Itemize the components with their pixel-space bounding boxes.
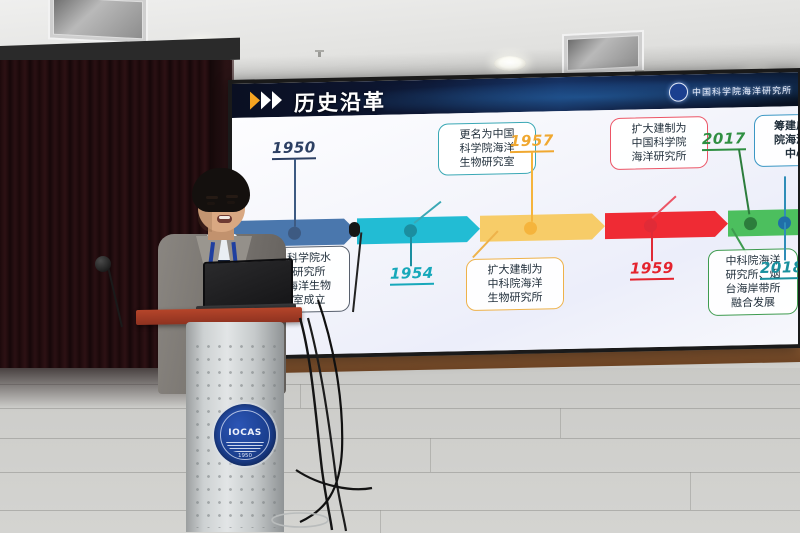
- timeline-track: [232, 209, 798, 247]
- slide-body: 1950 中国科学院水 生物研究所 青岛海洋生物 研究室成立 1954 更名为中…: [232, 106, 798, 356]
- microphone-head-right: [349, 222, 360, 237]
- speaker-hair: [192, 168, 250, 212]
- speaker-brow-right: [226, 195, 238, 198]
- stem-2018-upper: [784, 176, 786, 216]
- chevron-icons: [250, 91, 282, 110]
- stem-1957: [531, 152, 533, 222]
- stem-2017: [738, 149, 750, 214]
- timeline-segment-1959: [605, 211, 715, 239]
- ceiling-vent-right: [562, 30, 644, 76]
- speaker-eye-left: [207, 202, 215, 205]
- timeline-year-2018: 2018: [760, 258, 798, 277]
- timeline-box-1959: 扩大建制为 中国科学院 海洋研究所: [610, 116, 708, 170]
- speaker-mouth: [217, 215, 232, 223]
- stem-1959: [651, 225, 653, 261]
- timeline-year-2017: 2017: [702, 129, 746, 148]
- sprinkler-1: [318, 50, 321, 57]
- institute-logo: 中国科学院海洋研究所: [669, 80, 792, 102]
- speaker-brow-left: [206, 196, 218, 199]
- timeline-year-1957: 1957: [510, 131, 554, 150]
- timeline-year-1959: 1959: [630, 259, 674, 278]
- podium-emblem: IOCAS 1950: [214, 404, 276, 466]
- downlight-2: [494, 56, 526, 71]
- chevron-right-icon-orange: [250, 91, 260, 109]
- logo-circle-icon: [669, 82, 688, 101]
- speaker-eye-right: [227, 201, 235, 204]
- emblem-year: 1950: [214, 453, 276, 459]
- logo-label: 中国科学院海洋研究所: [692, 83, 792, 98]
- timeline-year-1954: 1954: [390, 264, 434, 283]
- chevron-right-icon-white-1: [261, 91, 271, 109]
- stem-1954: [410, 230, 412, 266]
- timeline-year-1950: 1950: [272, 138, 316, 157]
- emblem-wave-icon: [226, 440, 264, 452]
- ceiling-vent-left: [48, 0, 148, 45]
- slide-title: 历史沿革: [294, 86, 386, 118]
- stem-2018: [784, 222, 786, 260]
- chevron-right-icon-white-2: [272, 91, 282, 109]
- screenshot-root: 历史沿革 中国科学院海洋研究所: [0, 0, 800, 533]
- microphone-head-left: [95, 256, 111, 272]
- emblem-label: IOCAS: [214, 428, 276, 438]
- timeline-box-2018: 筹建启动中科 院海洋大科学 中心建设: [754, 113, 798, 167]
- timeline-box-1957: 扩大建制为 中科院海洋 生物研究所: [466, 257, 564, 311]
- presentation-screen[interactable]: 历史沿革 中国科学院海洋研究所: [232, 72, 798, 356]
